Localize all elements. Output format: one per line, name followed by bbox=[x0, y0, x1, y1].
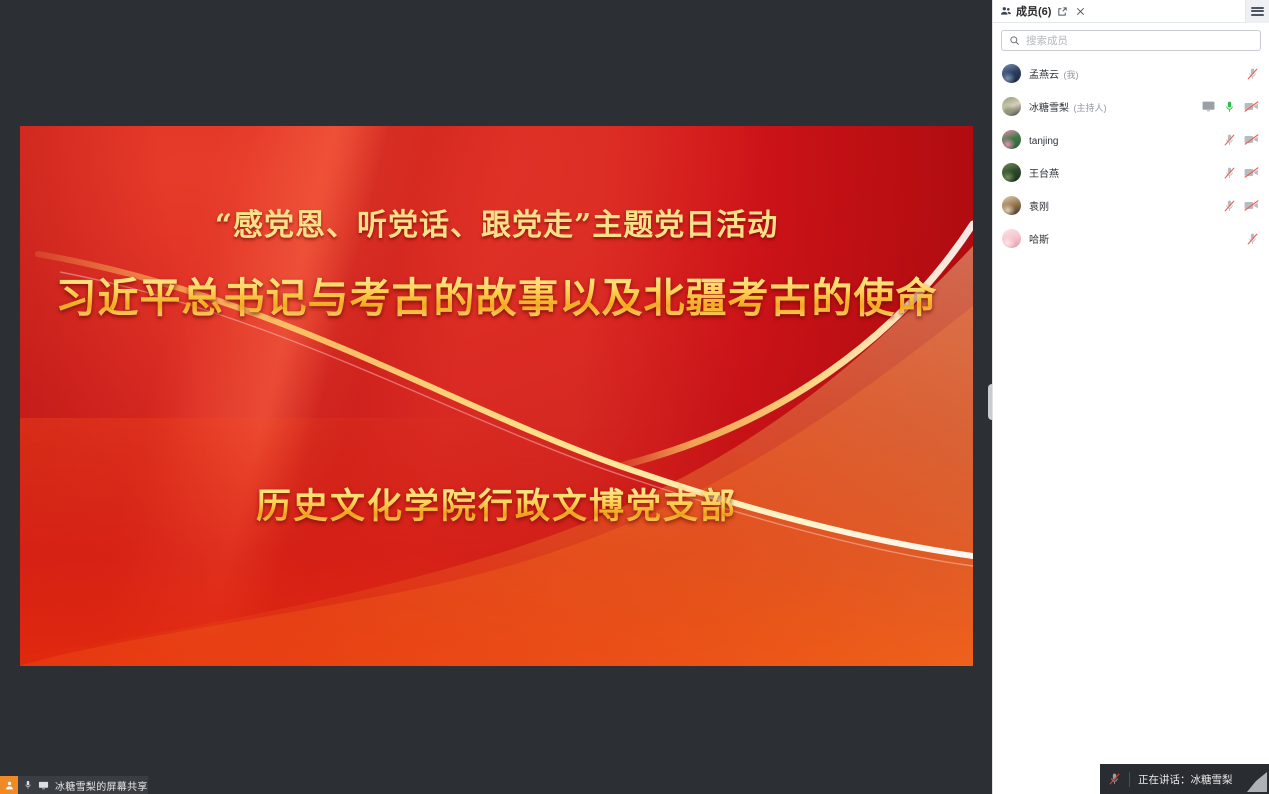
mic-muted-icon[interactable] bbox=[1223, 199, 1236, 213]
monitor-icon bbox=[38, 780, 49, 791]
participant-list: 孟燕云 (我) 冰糖雪梨 (主持人) tanjing 王台燕 bbox=[993, 57, 1269, 255]
participant-row[interactable]: 王台燕 bbox=[993, 156, 1269, 189]
search-box[interactable] bbox=[1001, 30, 1261, 51]
speaking-tooltip: 正在讲话：冰糖雪梨 bbox=[1100, 764, 1269, 794]
participant-name: tanjing bbox=[1029, 136, 1058, 147]
popout-icon[interactable] bbox=[1057, 6, 1068, 17]
mic-active-icon[interactable] bbox=[1223, 100, 1236, 114]
mic-muted-icon[interactable] bbox=[1223, 133, 1236, 147]
camera-muted-icon[interactable] bbox=[1244, 133, 1259, 146]
hamburger-menu-icon[interactable] bbox=[1245, 0, 1269, 23]
participant-row[interactable]: 冰糖雪梨 (主持人) bbox=[993, 90, 1269, 123]
avatar[interactable] bbox=[1002, 64, 1021, 83]
screen-share-icon[interactable] bbox=[1202, 101, 1215, 112]
tooltip-divider bbox=[1129, 772, 1130, 787]
mic-muted-icon bbox=[1108, 772, 1121, 786]
avatar[interactable] bbox=[1002, 196, 1021, 215]
microphone-icon bbox=[23, 779, 33, 791]
screen-share-label: 冰糖雪梨的屏幕共享 bbox=[55, 778, 148, 793]
slide-organization: 历史文化学院行政文博党支部 bbox=[20, 478, 973, 529]
participant-actions bbox=[1246, 232, 1259, 246]
people-icon bbox=[1000, 5, 1012, 17]
search-icon bbox=[1009, 35, 1020, 46]
shared-screen-stage[interactable]: “感党恩、听党话、跟党走”主题党日活动 习近平总书记与考古的故事以及北疆考古的使… bbox=[0, 0, 992, 794]
participant-names: 冰糖雪梨 (主持人) bbox=[1029, 98, 1202, 116]
participant-names: tanjing bbox=[1029, 131, 1223, 149]
tab-participants[interactable]: 成员(6) bbox=[993, 0, 1093, 23]
mic-muted-icon[interactable] bbox=[1246, 232, 1259, 246]
participant-actions bbox=[1246, 67, 1259, 81]
participant-name: 哈斯 bbox=[1029, 235, 1049, 246]
screen-share-status-bar[interactable]: 冰糖雪梨的屏幕共享 bbox=[0, 776, 148, 794]
slide-title: 习近平总书记与考古的故事以及北疆考古的使命 bbox=[20, 264, 973, 324]
participant-names: 袁刚 bbox=[1029, 197, 1223, 215]
speaking-text: 正在讲话：冰糖雪梨 bbox=[1138, 772, 1233, 787]
camera-muted-icon[interactable] bbox=[1244, 100, 1259, 113]
mic-muted-icon[interactable] bbox=[1223, 166, 1236, 180]
occluded-corner-shape bbox=[1247, 772, 1267, 792]
participant-name: 冰糖雪梨 bbox=[1029, 103, 1069, 114]
camera-muted-icon[interactable] bbox=[1244, 199, 1259, 212]
participant-actions bbox=[1223, 133, 1259, 147]
mic-muted-icon[interactable] bbox=[1246, 67, 1259, 81]
participant-actions bbox=[1223, 166, 1259, 180]
search-area bbox=[993, 23, 1269, 57]
avatar[interactable] bbox=[1002, 163, 1021, 182]
panel-header: 成员(6) bbox=[993, 0, 1269, 23]
participant-row[interactable]: 哈斯 bbox=[993, 222, 1269, 255]
presentation-slide[interactable]: “感党恩、听党话、跟党走”主题党日活动 习近平总书记与考古的故事以及北疆考古的使… bbox=[20, 126, 973, 666]
avatar[interactable] bbox=[1002, 229, 1021, 248]
person-icon bbox=[0, 776, 18, 794]
participant-name: 袁刚 bbox=[1029, 202, 1049, 213]
avatar[interactable] bbox=[1002, 130, 1021, 149]
participant-actions bbox=[1202, 100, 1259, 114]
participant-role: (我) bbox=[1063, 70, 1078, 80]
search-input[interactable] bbox=[1026, 35, 1253, 47]
camera-muted-icon[interactable] bbox=[1244, 166, 1259, 179]
participants-count-label: 成员(6) bbox=[1016, 3, 1051, 19]
meeting-window: “感党恩、听党话、跟党走”主题党日活动 习近平总书记与考古的故事以及北疆考古的使… bbox=[0, 0, 1269, 794]
participant-names: 哈斯 bbox=[1029, 230, 1246, 248]
avatar[interactable] bbox=[1002, 97, 1021, 116]
close-icon[interactable] bbox=[1075, 6, 1086, 17]
participant-row[interactable]: tanjing bbox=[993, 123, 1269, 156]
participant-names: 王台燕 bbox=[1029, 164, 1223, 182]
participant-name: 王台燕 bbox=[1029, 169, 1059, 180]
participant-role: (主持人) bbox=[1073, 103, 1106, 113]
participant-name: 孟燕云 bbox=[1029, 70, 1059, 81]
participants-panel: 成员(6) bbox=[992, 0, 1269, 794]
slide-subtitle: “感党恩、听党话、跟党走”主题党日活动 bbox=[20, 200, 973, 244]
participant-names: 孟燕云 (我) bbox=[1029, 65, 1246, 83]
participant-row[interactable]: 袁刚 bbox=[993, 189, 1269, 222]
participant-row[interactable]: 孟燕云 (我) bbox=[993, 57, 1269, 90]
participant-actions bbox=[1223, 199, 1259, 213]
